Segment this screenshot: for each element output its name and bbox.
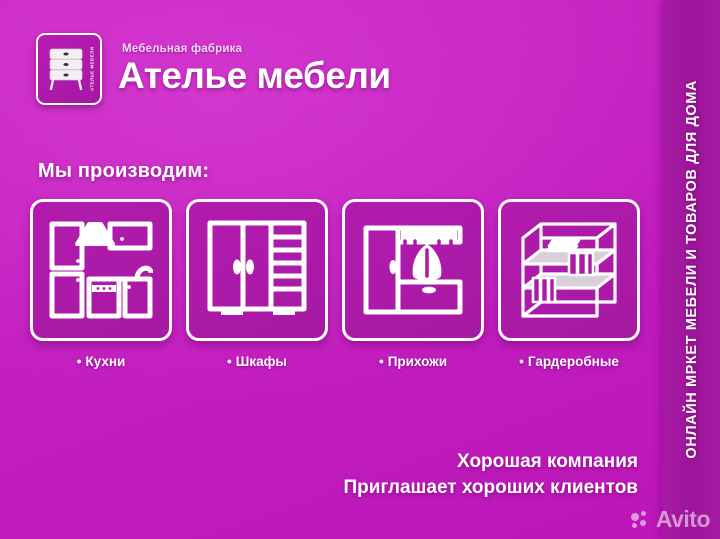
brand-text-block: Мебельная фабрика Ателье мебели xyxy=(118,44,391,95)
avito-dots-icon xyxy=(631,511,651,529)
kitchen-icon xyxy=(49,221,153,319)
bullet-icon: • xyxy=(227,354,232,369)
product-label: •Кухни xyxy=(77,354,126,369)
product-label-text: Гардеробные xyxy=(528,354,619,369)
dresser-icon xyxy=(49,48,83,90)
wardrobe-icon xyxy=(207,220,307,320)
tagline-line-1: Хорошая компания xyxy=(344,449,638,475)
side-strip: ОНЛАЙН МРКЕТ МЕБЕЛИ И ТОВАРОВ ДЛЯ ДОМА xyxy=(663,0,720,539)
brand-subtitle: Мебельная фабрика xyxy=(122,44,391,56)
product-label: •Прихожи xyxy=(379,354,447,369)
product-card-frame xyxy=(342,199,484,341)
poster-canvas: АТЕЛЬЕ МЕБЕЛИ Мебельная фабрика Ателье м… xyxy=(0,0,720,539)
bullet-icon: • xyxy=(379,354,384,369)
tagline-block: Хорошая компания Приглашает хороших клие… xyxy=(344,449,638,501)
avito-watermark: Avito xyxy=(631,508,710,531)
product-card-kitchen[interactable]: •Кухни xyxy=(30,199,172,369)
product-card-frame xyxy=(186,199,328,341)
brand-header: АТЕЛЬЕ МЕБЕЛИ Мебельная фабрика Ателье м… xyxy=(36,33,391,105)
product-card-shelving[interactable]: •Гардеробные xyxy=(498,199,640,369)
product-card-hallway[interactable]: •Прихожи xyxy=(342,199,484,369)
shelving-icon xyxy=(517,220,621,320)
tagline-line-2: Приглашает хороших клиентов xyxy=(344,475,638,501)
logo-vertical-text: АТЕЛЬЕ МЕБЕЛИ xyxy=(88,40,97,98)
bullet-icon: • xyxy=(519,354,524,369)
hallway-icon xyxy=(363,220,463,320)
product-label: •Шкафы xyxy=(227,354,287,369)
product-label-text: Прихожи xyxy=(388,354,447,369)
product-card-frame xyxy=(30,199,172,341)
bullet-icon: • xyxy=(77,354,82,369)
product-card-frame xyxy=(498,199,640,341)
product-card-list: •Кухни xyxy=(30,199,640,369)
product-label-text: Кухни xyxy=(85,354,125,369)
side-strip-text: ОНЛАЙН МРКЕТ МЕБЕЛИ И ТОВАРОВ ДЛЯ ДОМА xyxy=(684,80,700,459)
product-card-wardrobe[interactable]: •Шкафы xyxy=(186,199,328,369)
avito-watermark-text: Avito xyxy=(656,508,710,531)
product-label: •Гардеробные xyxy=(519,354,619,369)
brand-title: Ателье мебели xyxy=(118,57,391,94)
section-title: Мы производим: xyxy=(38,160,209,183)
logo-badge: АТЕЛЬЕ МЕБЕЛИ xyxy=(36,33,102,105)
product-label-text: Шкафы xyxy=(236,354,287,369)
